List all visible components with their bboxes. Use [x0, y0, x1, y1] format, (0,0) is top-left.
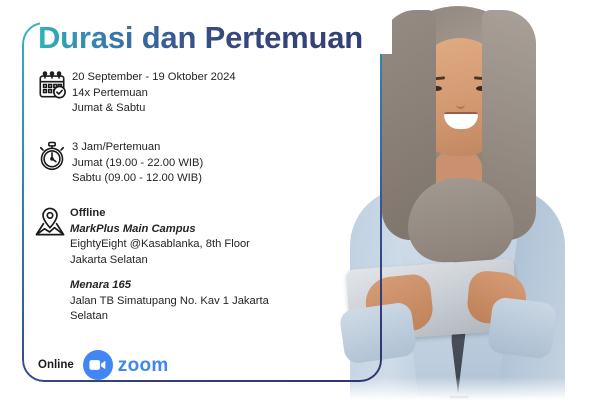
info-line: Jumat & Sabtu	[72, 101, 236, 117]
nose	[456, 96, 465, 109]
info-row-venue-text: Offline MarkPlus Main Campus EightyEight…	[70, 206, 250, 268]
info-row-venue: Offline MarkPlus Main Campus EightyEight…	[30, 206, 250, 268]
photo-bottom-fade	[330, 377, 580, 403]
info-row-venue-secondary-text: Menara 165 Jalan TB Simatupang No. Kav 1…	[70, 278, 285, 325]
info-line: Sabtu (09.00 - 12.00 WIB)	[72, 171, 203, 187]
info-line: Jumat (19.00 - 22.00 WIB)	[72, 156, 203, 172]
info-row-date: 20 September - 19 Oktober 2024 14x Perte…	[32, 70, 236, 117]
poster-canvas: Durasi dan Pertemuan 20 September - 19 O…	[0, 0, 600, 403]
info-line: MarkPlus Main Campus	[70, 222, 250, 238]
zoom-wordmark: zoom	[118, 356, 169, 375]
info-row-time: 3 Jam/Pertemuan Jumat (19.00 - 22.00 WIB…	[32, 140, 203, 187]
info-row-venue-secondary: Menara 165 Jalan TB Simatupang No. Kav 1…	[30, 278, 285, 325]
zoom-logo: zoom	[83, 350, 169, 380]
info-line: 3 Jam/Pertemuan	[72, 140, 203, 156]
info-line: Jalan TB Simatupang No. Kav 1 Jakarta Se…	[70, 294, 285, 325]
online-label: Online	[38, 359, 74, 371]
hijab-drape	[408, 178, 514, 262]
map-pin-icon	[30, 206, 70, 238]
sleeve-cuff-right	[487, 296, 557, 359]
info-line: EightyEight @Kasablanka, 8th Floor	[70, 237, 250, 253]
info-line: 14x Pertemuan	[72, 86, 236, 102]
info-line: Offline	[70, 206, 250, 222]
zoom-video-camera-icon	[83, 350, 113, 380]
info-line: 20 September - 19 Oktober 2024	[72, 70, 236, 86]
stopwatch-icon	[32, 140, 72, 172]
page-title: Durasi dan Pertemuan	[38, 20, 363, 56]
info-line: Menara 165	[70, 278, 285, 294]
info-line: Jakarta Selatan	[70, 253, 250, 269]
info-row-time-text: 3 Jam/Pertemuan Jumat (19.00 - 22.00 WIB…	[72, 140, 203, 187]
calendar-check-icon	[32, 70, 72, 100]
info-row-date-text: 20 September - 19 Oktober 2024 14x Perte…	[72, 70, 236, 117]
online-platform-block: Online zoom	[38, 350, 169, 380]
